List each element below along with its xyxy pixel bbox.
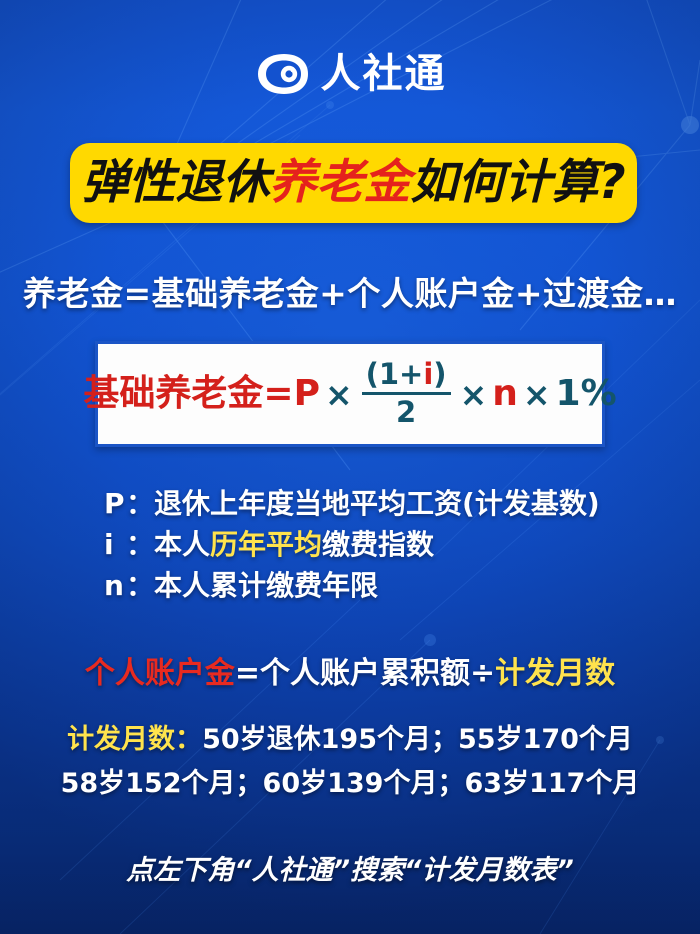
- formula-times-1: ×: [320, 378, 358, 411]
- formula-percent: 1%: [556, 376, 617, 412]
- title-part-highlight: 养老金: [269, 155, 410, 210]
- definition-symbol-n: n: [104, 565, 126, 606]
- fraction-denominator: 2: [396, 397, 416, 427]
- definitions-list: P：退休上年度当地平均工资(计发基数) i：本人历年平均缴费指数 n：本人累计缴…: [104, 483, 624, 606]
- formula-fraction: (1+i) 2: [362, 359, 451, 427]
- title-line: 弹性退休养老金如何计算?: [81, 159, 625, 206]
- footer-hint: 点左下角“人社通”搜索“计发月数表”: [0, 848, 700, 887]
- fraction-numerator: (1+i): [362, 359, 451, 389]
- numerator-variable-i: i: [423, 357, 433, 391]
- brand-logo: 人社通: [0, 52, 700, 96]
- months-table: 计发月数：50岁退休195个月；55岁170个月 58岁152个月；60岁139…: [0, 718, 700, 806]
- formula-box: 基础养老金 = P × (1+i) 2 × n × 1%: [95, 341, 605, 447]
- definition-symbol-i: i: [104, 524, 126, 565]
- poster-canvas: 人社通 弹性退休养老金如何计算? 养老金=基础养老金+个人账户金+过渡金… 基础…: [0, 0, 700, 934]
- eye-icon: [254, 52, 310, 96]
- title-part-3: 如何计算?: [410, 155, 625, 210]
- months-row-2: 58岁152个月；60岁139个月；63岁117个月: [0, 762, 700, 806]
- definition-colon-n: ：: [126, 569, 154, 602]
- formula-label: 基础养老金: [83, 376, 263, 412]
- formula-expression: 基础养老金 = P × (1+i) 2 × n × 1%: [83, 360, 616, 428]
- definition-text-p: 退休上年度当地平均工资(计发基数): [154, 487, 600, 520]
- account-formula-highlight: 计发月数: [495, 656, 615, 691]
- months-values-line-2: 58岁152个月；60岁139个月；63岁117个月: [61, 768, 640, 799]
- months-values-line-1: 50岁退休195个月；55岁170个月: [202, 724, 633, 755]
- account-formula-body: =个人账户累积额÷: [235, 656, 495, 691]
- formula-variable-p: P: [294, 376, 320, 412]
- definition-row-i: i：本人历年平均缴费指数: [104, 524, 624, 565]
- formula-variable-n: n: [492, 376, 518, 412]
- definition-highlight-i: 历年平均: [210, 528, 322, 561]
- definition-text-i-before: 本人: [154, 528, 210, 561]
- title-part-1: 弹性退休: [81, 155, 269, 210]
- months-row-1: 计发月数：50岁退休195个月；55岁170个月: [0, 718, 700, 762]
- account-formula-label: 个人账户金: [85, 656, 235, 691]
- formula-times-3: ×: [518, 378, 556, 411]
- months-label: 计发月数：: [67, 724, 202, 755]
- definition-text-n: 本人累计缴费年限: [154, 569, 378, 602]
- title-banner: 弹性退休养老金如何计算?: [70, 143, 637, 223]
- numerator-right: ): [433, 357, 446, 391]
- definition-colon-p: ：: [126, 487, 154, 520]
- formula-equals: =: [263, 376, 293, 412]
- definition-colon-i: ：: [126, 528, 154, 561]
- brand-name: 人社通: [321, 54, 447, 94]
- definition-row-p: P：退休上年度当地平均工资(计发基数): [104, 483, 624, 524]
- account-formula: 个人账户金=个人账户累积额÷计发月数: [0, 648, 700, 692]
- definition-text-i-after: 缴费指数: [322, 528, 434, 561]
- definition-row-n: n：本人累计缴费年限: [104, 565, 624, 606]
- definition-symbol-p: P: [104, 483, 126, 524]
- formula-times-2: ×: [455, 378, 493, 411]
- numerator-left: (1+: [366, 357, 424, 391]
- pension-equation: 养老金=基础养老金+个人账户金+过渡金…: [0, 267, 700, 315]
